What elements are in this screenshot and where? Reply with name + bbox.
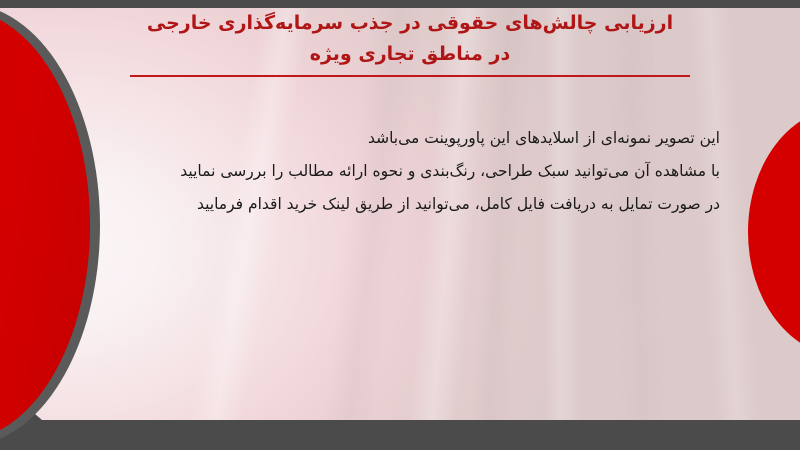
slide-title-line-1: ارزیابی چالش‌های حقوقی در جذب سرمایه‌گذا…	[110, 8, 710, 39]
body-line-3: در صورت تمایل به دریافت فایل کامل، می‌تو…	[80, 188, 720, 221]
presentation-slide: ارزیابی چالش‌های حقوقی در جذب سرمایه‌گذا…	[0, 0, 800, 450]
slide-title-line-2: در مناطق تجاری ویژه	[110, 39, 710, 70]
top-gray-band	[0, 0, 800, 8]
slide-title: ارزیابی چالش‌های حقوقی در جذب سرمایه‌گذا…	[110, 8, 710, 70]
body-line-2: با مشاهده آن می‌توانید سبک طراحی، رنگ‌بن…	[80, 155, 720, 188]
bottom-gray-band	[0, 420, 800, 450]
title-underline-rule	[130, 75, 690, 77]
slide-body-text: این تصویر نمونه‌ای از اسلایدهای این پاور…	[80, 122, 720, 221]
body-line-1: این تصویر نمونه‌ای از اسلایدهای این پاور…	[80, 122, 720, 155]
